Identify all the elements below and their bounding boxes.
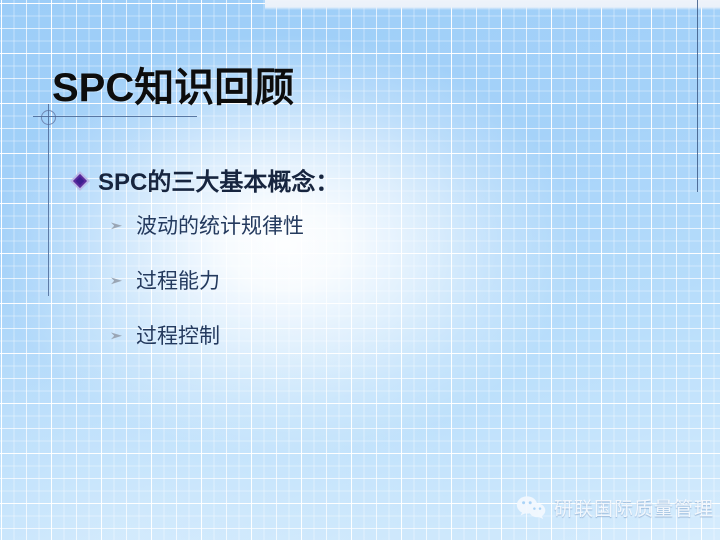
wechat-icon bbox=[516, 495, 546, 521]
bullet-level2: 波动的统计规律性 bbox=[110, 212, 632, 240]
right-vertical-rule bbox=[697, 0, 698, 192]
bullet-level2: 过程能力 bbox=[110, 267, 632, 295]
arrow-right-icon bbox=[110, 329, 124, 343]
bullet-level2-label: 过程控制 bbox=[136, 325, 220, 348]
bullet-level2-label: 过程能力 bbox=[136, 270, 220, 293]
bullet-level1: SPC的三大基本概念： bbox=[72, 170, 632, 196]
slide-canvas: SPC知识回顾 SPC的三大基本概念： 波动的统计规律性 bbox=[0, 0, 720, 540]
arrow-right-icon bbox=[110, 219, 124, 233]
slide-body: SPC的三大基本概念： 波动的统计规律性 过程能力 bbox=[72, 170, 632, 377]
bullet-level2: 过程控制 bbox=[110, 322, 632, 350]
arrow-right-icon bbox=[110, 274, 124, 288]
top-light-band bbox=[265, 0, 720, 10]
watermark-label: 研联国际质量管理 bbox=[554, 494, 714, 521]
watermark: 研联国际质量管理 bbox=[516, 494, 714, 521]
slide-title: SPC知识回顾 bbox=[52, 55, 294, 113]
bullet-level2-label: 波动的统计规律性 bbox=[136, 215, 304, 238]
sub-bullet-list: 波动的统计规律性 过程能力 过程控制 bbox=[72, 212, 632, 350]
bullet-level1-label: SPC的三大基本概念： bbox=[98, 170, 339, 196]
decorative-horizontal-rule bbox=[33, 116, 197, 117]
diamond-icon bbox=[72, 173, 92, 193]
decorative-vertical-rule bbox=[48, 104, 49, 296]
